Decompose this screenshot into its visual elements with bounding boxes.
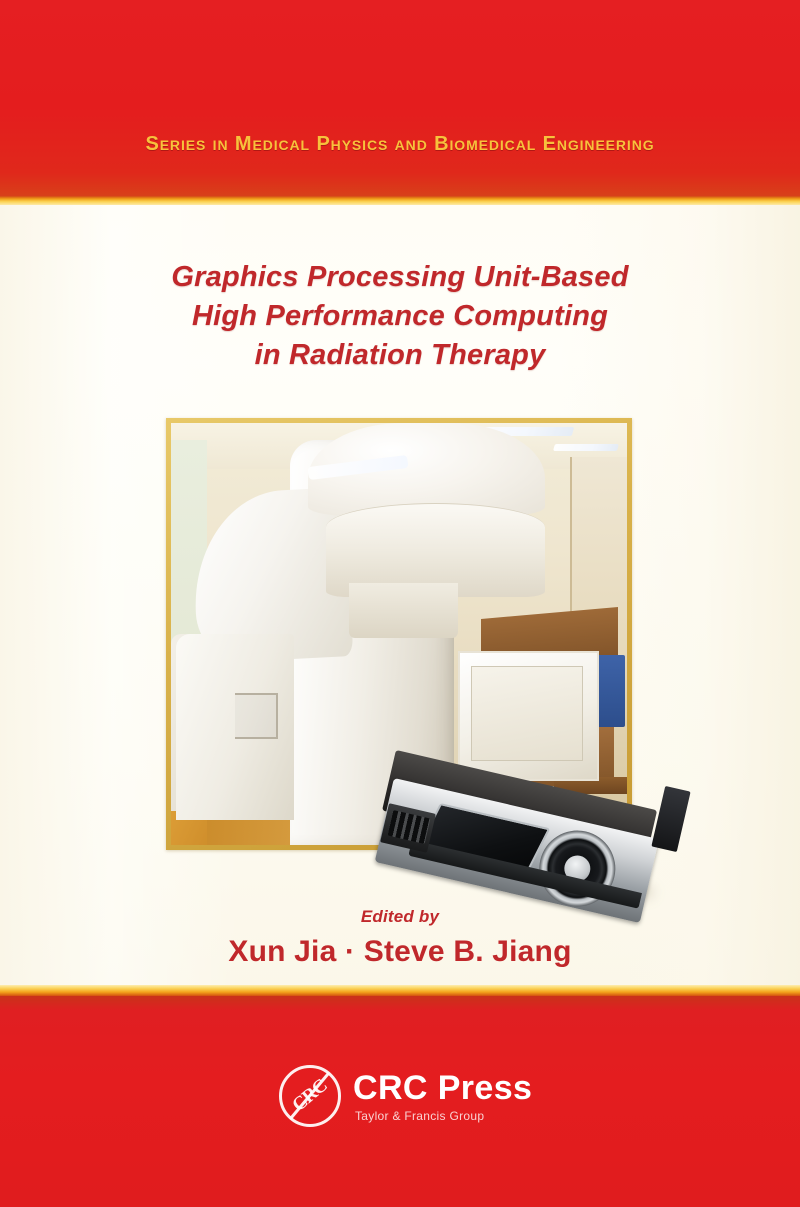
treatment-couch-panel — [458, 651, 599, 782]
top-gold-rule — [0, 196, 800, 205]
book-cover: Series in Medical Physics and Biomedical… — [0, 0, 800, 1207]
title-line-1: Graphics Processing Unit-Based — [0, 258, 800, 297]
edited-by-label: Edited by — [0, 906, 800, 928]
crc-emblem-icon: CRC — [279, 1065, 341, 1127]
title-line-3: in Radiation Therapy — [0, 336, 800, 375]
cover-photo-frame — [166, 418, 632, 850]
ceiling-light-icon — [553, 444, 619, 451]
bottom-gold-rule — [0, 985, 800, 996]
editors-block: Edited by Xun Jia · Steve B. Jiang — [0, 906, 800, 970]
series-title: Series in Medical Physics and Biomedical… — [0, 133, 800, 156]
publisher-wordmark: CRC Press — [353, 1069, 532, 1107]
couch-panel-inner — [471, 666, 582, 762]
crc-emblem-letters: CRC — [266, 1052, 353, 1139]
publisher-tagline: Taylor & Francis Group — [355, 1109, 484, 1123]
cover-photo-linac — [171, 423, 627, 845]
book-title: Graphics Processing Unit-Based High Perf… — [0, 258, 800, 375]
title-line-2: High Performance Computing — [0, 297, 800, 336]
linac-collimator — [349, 583, 458, 638]
top-red-band — [0, 0, 800, 196]
blue-bin — [597, 655, 624, 727]
editor-names: Xun Jia · Steve B. Jiang — [0, 934, 800, 970]
publisher-logo: CRC CRC Press Taylor & Francis Group — [279, 1063, 521, 1139]
linac-arm-slot — [235, 693, 278, 739]
